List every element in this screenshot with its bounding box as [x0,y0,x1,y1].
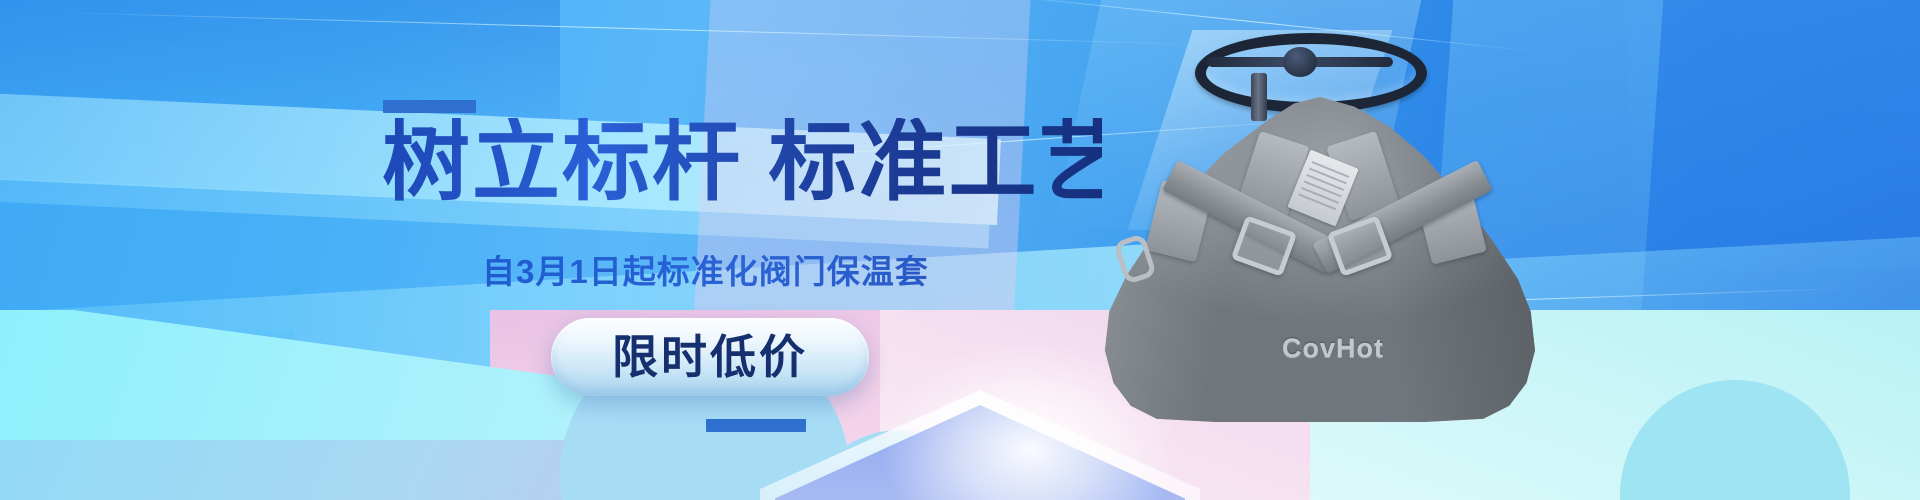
banner-copy: 树立标杆 标准工艺 自3月1日起标准化阀门保温套 限时低价 [0,0,1060,500]
product-image: CovHot [1105,15,1535,435]
background-panel-2 [1622,0,1920,270]
valve-handwheel-icon [1195,33,1405,93]
headline: 树立标杆 标准工艺 [382,118,1102,206]
handwheel-hub [1283,47,1317,77]
product-brand-text: CovHot [1253,333,1413,364]
cta-underline-bar [706,419,806,432]
subheadline: 自3月1日起标准化阀门保温套 [482,255,1002,288]
promo-banner: 树立标杆 标准工艺 自3月1日起标准化阀门保温套 限时低价 CovHot [0,0,1920,500]
cta-button-label: 限时低价 [612,334,808,380]
valve-stem [1251,73,1267,121]
cta-button[interactable]: 限时低价 [551,318,869,396]
